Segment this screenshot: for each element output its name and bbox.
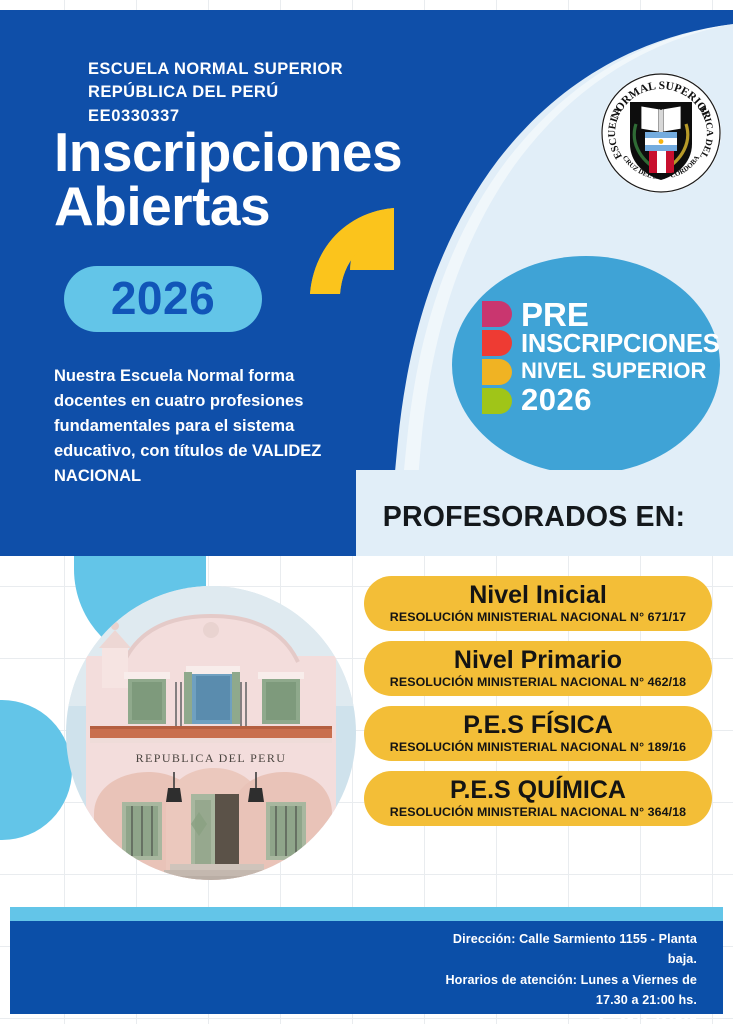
program-resolution: RESOLUCIÓN MINISTERIAL NACIONAL N° 671/1…	[390, 611, 686, 625]
programs-heading: PROFESORADOS EN:	[356, 501, 712, 534]
program-resolution: RESOLUCIÓN MINISTERIAL NACIONAL N° 189/1…	[390, 741, 686, 755]
pre-inscripciones-badge: PRE INSCRIPCIONES NIVEL SUPERIOR 2026	[452, 256, 720, 474]
badge-line-pre: PRE	[521, 298, 720, 331]
program-name: P.E.S FÍSICA	[463, 712, 613, 738]
programs-list: Nivel Inicial RESOLUCIÓN MINISTERIAL NAC…	[364, 576, 712, 836]
school-building-photo: REPUBLICA DEL PERU	[66, 586, 356, 880]
program-resolution: RESOLUCIÓN MINISTERIAL NACIONAL N° 364/1…	[390, 806, 686, 820]
badge-text-block: PRE INSCRIPCIONES NIVEL SUPERIOR 2026	[521, 298, 720, 415]
badge-bar-magenta	[482, 301, 512, 327]
school-name-block: ESCUELA NORMAL SUPERIOR REPÚBLICA DEL PE…	[88, 58, 343, 128]
footer-bar: Dirección: Calle Sarmiento 1155 - Planta…	[10, 921, 723, 1014]
year-badge-label: 2026	[111, 275, 215, 321]
program-card[interactable]: Nivel Inicial RESOLUCIÓN MINISTERIAL NAC…	[364, 576, 712, 631]
badge-line-year: 2026	[521, 384, 720, 415]
program-name: Nivel Primario	[454, 647, 622, 673]
phone-row[interactable]: 3549-426767	[377, 1013, 697, 1024]
address-line-1: Dirección: Calle Sarmiento 1155 - Planta	[377, 929, 697, 949]
year-badge: 2026	[64, 266, 262, 332]
program-card[interactable]: P.E.S QUÍMICA RESOLUCIÓN MINISTERIAL NAC…	[364, 771, 712, 826]
school-name-line-1: ESCUELA NORMAL SUPERIOR	[88, 58, 343, 81]
badge-content: PRE INSCRIPCIONES NIVEL SUPERIOR 2026	[482, 298, 720, 417]
footer-accent-strip	[10, 907, 723, 921]
program-resolution: RESOLUCIÓN MINISTERIAL NACIONAL N° 462/1…	[390, 676, 686, 690]
hours-line-2: 17.30 a 21:00 hs.	[377, 990, 697, 1010]
program-name: P.E.S QUÍMICA	[450, 777, 626, 803]
hours-line-1: Horarios de atención: Lunes a Viernes de	[377, 970, 697, 990]
badge-line-inscripciones: INSCRIPCIONES	[521, 332, 720, 358]
headline-line-2: Abiertas	[54, 180, 402, 234]
program-card[interactable]: P.E.S FÍSICA RESOLUCIÓN MINISTERIAL NACI…	[364, 706, 712, 761]
program-card[interactable]: Nivel Primario RESOLUCIÓN MINISTERIAL NA…	[364, 641, 712, 696]
badge-bar-yellow	[482, 359, 512, 385]
headline-line-1: Inscripciones	[54, 126, 402, 180]
page-title: Inscripciones Abiertas	[54, 126, 402, 234]
svg-text:REPUBLICA DEL PERU: REPUBLICA DEL PERU	[136, 751, 287, 765]
poster-root: ESCUELA NORMAL SUPERIOR REPÚBLICA DEL PE…	[0, 0, 733, 1024]
badge-bar-red	[482, 330, 512, 356]
badge-bar-green	[482, 388, 512, 414]
school-name-line-2: REPÚBLICA DEL PERÚ	[88, 81, 343, 104]
school-crest-logo: NORMAL SUPERIOR ESCUELA "REPÚBLICA DEL P…	[600, 72, 722, 194]
program-name: Nivel Inicial	[469, 582, 607, 608]
badge-line-nivel-superior: NIVEL SUPERIOR	[521, 360, 720, 382]
intro-paragraph: Nuestra Escuela Normal forma docentes en…	[54, 364, 364, 489]
phone-icon	[598, 1016, 611, 1024]
contact-info: Dirección: Calle Sarmiento 1155 - Planta…	[377, 929, 697, 1024]
badge-color-bars	[482, 298, 512, 417]
phone-number: 3549-426767	[619, 1013, 697, 1024]
address-line-2: baja.	[377, 949, 697, 969]
